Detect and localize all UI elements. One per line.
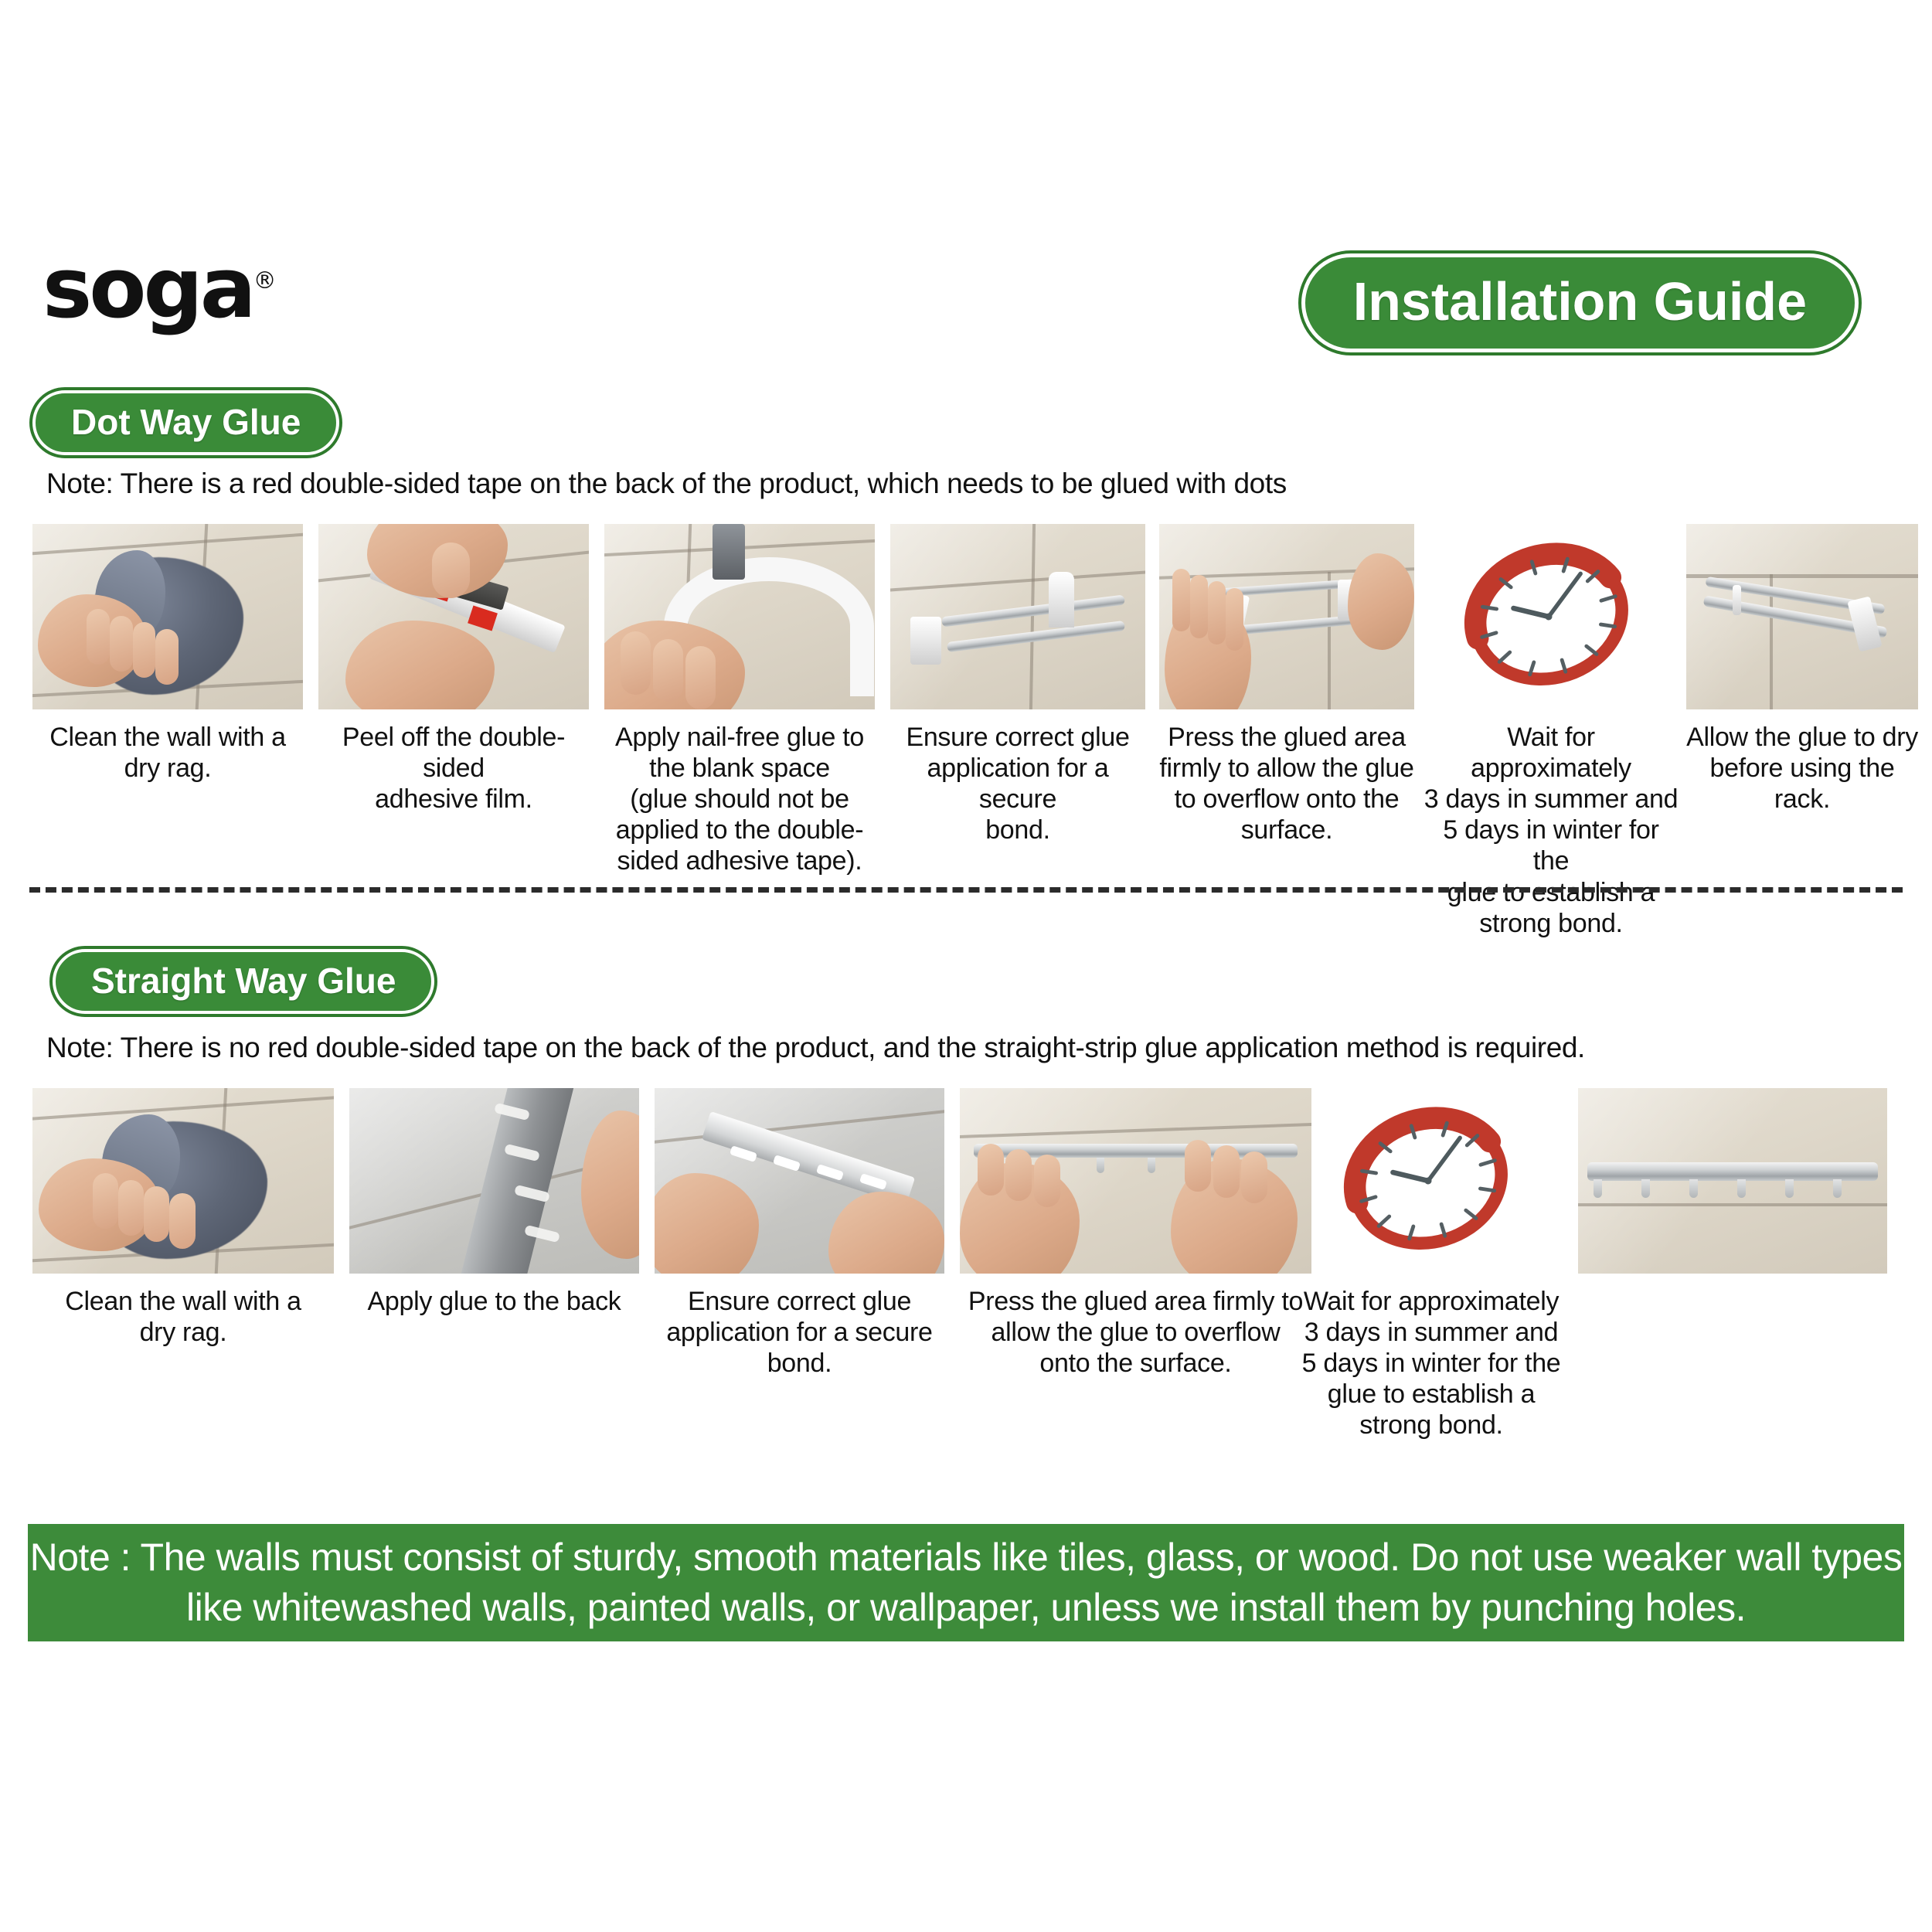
step-photo-hand-wiping-tile-with-cloth <box>32 524 303 709</box>
installation-guide-badge: Installation Guide <box>1301 253 1859 352</box>
step-caption: Press the glued area firmly to allow the… <box>960 1286 1311 1379</box>
section-badge-dot-way-glue: Dot Way Glue <box>32 390 339 455</box>
step-photo-hands-peeling-adhesive-film <box>318 524 589 709</box>
step-photo-hands-holding-glued-rail <box>655 1088 944 1274</box>
step-photo-mounted-towel-rack <box>1686 524 1918 709</box>
footer-note-line-1: Note : The walls must consist of sturdy,… <box>30 1532 1903 1583</box>
installation-guide-page: soga® Installation Guide Dot Way Glue No… <box>0 0 1932 1932</box>
step-photo-applying-glue-to-bracket <box>604 524 875 709</box>
footer-note-banner: Note : The walls must consist of sturdy,… <box>28 1524 1904 1641</box>
step-item: Apply glue to the back <box>349 1088 639 1317</box>
step-caption: Ensure correct glue application for a se… <box>655 1286 944 1379</box>
step-photo-mounted-hook-rail <box>1578 1088 1887 1274</box>
step-item: Allow the glue to dry before using the r… <box>1686 524 1918 815</box>
page-header: soga® Installation Guide <box>0 232 1932 371</box>
step-photo-hands-pressing-rack-on-wall <box>1159 524 1414 709</box>
step-caption: Apply nail-free glue to the blank space … <box>604 722 875 877</box>
registered-trademark-icon: ® <box>253 267 277 294</box>
step-item: Ensure correct glue application for a se… <box>890 524 1145 845</box>
step-caption: Clean the wall with a dry rag. <box>32 722 303 784</box>
step-caption: Press the glued area firmly to allow the… <box>1159 722 1414 845</box>
step-item <box>1578 1088 1918 1286</box>
section-divider <box>29 887 1903 893</box>
step-caption: Clean the wall with a dry rag. <box>32 1286 334 1348</box>
step-photo-hand-wiping-tile-with-cloth <box>32 1088 334 1274</box>
step-caption: Ensure correct glue application for a se… <box>890 722 1145 845</box>
step-row-dot-way-glue: Clean the wall with a dry rag.Peel off t… <box>32 524 1903 849</box>
step-caption: Apply glue to the back <box>349 1286 639 1317</box>
installation-guide-badge-label: Installation Guide <box>1353 274 1807 328</box>
step-photo-glue-strips-on-rail-back <box>349 1088 639 1274</box>
step-item: Wait for approximately 3 days in summer … <box>1300 1088 1563 1441</box>
section-badge-straight-way-glue: Straight Way Glue <box>53 949 434 1014</box>
step-photo-rack-with-glue-applied <box>890 524 1145 709</box>
step-photo-red-clock-icon <box>1312 1088 1544 1274</box>
section-note-2: Note: There is no red double-sided tape … <box>46 1032 1585 1064</box>
brand-logo-text: soga <box>43 240 253 337</box>
step-item: Clean the wall with a dry rag. <box>32 1088 334 1348</box>
step-photo-red-clock-icon <box>1433 524 1665 709</box>
step-row-straight-way-glue: Clean the wall with a dry rag.Apply glue… <box>32 1088 1903 1413</box>
step-item: Press the glued area firmly to allow the… <box>1159 524 1414 845</box>
step-item: Press the glued area firmly to allow the… <box>960 1088 1311 1379</box>
section-note-1: Note: There is a red double-sided tape o… <box>46 468 1287 500</box>
step-item: Apply nail-free glue to the blank space … <box>604 524 875 877</box>
step-photo-hands-pressing-rail-on-wall <box>960 1088 1311 1274</box>
step-caption: Peel off the double-sided adhesive film. <box>318 722 589 815</box>
step-caption: Wait for approximately 3 days in summer … <box>1423 722 1679 939</box>
step-item: Wait for approximately 3 days in summer … <box>1423 524 1679 939</box>
step-item: Clean the wall with a dry rag. <box>32 524 303 784</box>
step-caption: Wait for approximately 3 days in summer … <box>1300 1286 1563 1441</box>
step-item: Ensure correct glue application for a se… <box>655 1088 944 1379</box>
step-item: Peel off the double-sided adhesive film. <box>318 524 589 815</box>
brand-logo: soga® <box>43 247 277 331</box>
step-caption: Allow the glue to dry before using the r… <box>1686 722 1918 815</box>
footer-note-line-2: like whitewashed walls, painted walls, o… <box>186 1583 1746 1633</box>
section-badge-label-2: Straight Way Glue <box>91 963 396 998</box>
section-badge-label-1: Dot Way Glue <box>71 404 301 440</box>
